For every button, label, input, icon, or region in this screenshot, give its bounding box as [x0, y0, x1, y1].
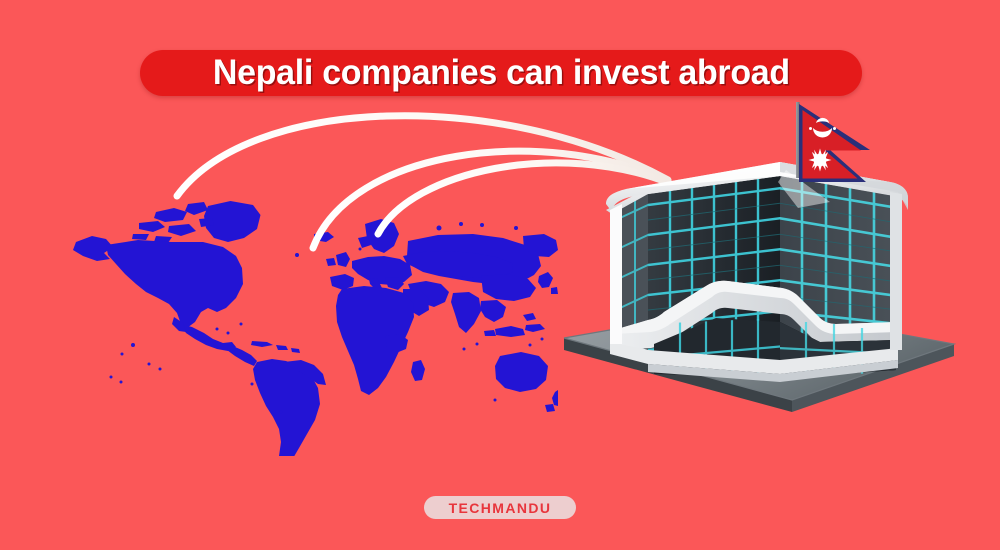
- techmandu-logo[interactable]: TECHMANDU: [424, 496, 576, 519]
- office-building-scene: [530, 92, 970, 432]
- world-map: [58, 186, 558, 456]
- flag-sun-emblem: [809, 149, 832, 172]
- nepal-flag-group: [796, 102, 870, 182]
- building-body: [606, 162, 908, 384]
- world-map-landmasses: [73, 201, 558, 456]
- poster-canvas: Nepali companies can invest abroad TECHM…: [0, 0, 1000, 550]
- techmandu-logo-text: TECHMANDU: [449, 500, 552, 516]
- title-banner: Nepali companies can invest abroad: [140, 50, 862, 96]
- title-text: Nepali companies can invest abroad: [213, 53, 790, 93]
